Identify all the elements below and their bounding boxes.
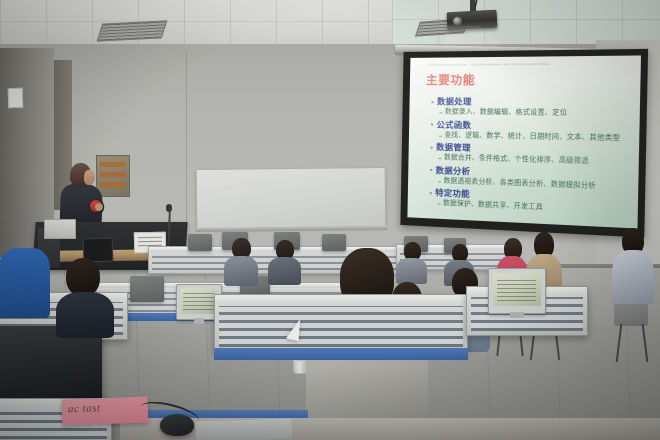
paper-line [138,237,162,238]
person-torso [56,292,114,338]
classroom-photo: Office Solution Group · Data Management … [0,0,660,440]
wall-notice-paper [8,88,24,108]
slide-title: 主要功能 [426,72,476,88]
slide-bullet-group: 公式函数 查找、逻辑、数学、统计、日期时间、文本、其他类型 [430,119,629,144]
desk-edge-trim [214,348,468,360]
monitor-rear [188,234,212,251]
lectern-equipment-box [44,219,76,239]
person-torso [396,258,427,284]
monitor-rear [322,234,346,251]
monitor-rear [130,276,164,302]
computer-mouse [160,414,194,436]
panel-strip [100,172,126,177]
presenter-hand [95,203,103,211]
slide-header-text: Office Solution Group · Data Management … [429,61,550,66]
wall-mounted-panel [96,155,130,197]
monitor-screen [493,273,540,306]
sticky-note-text: ac tast [68,402,101,415]
slide-bullet-list: 数据处理 数据录入、数据编辑、格式设置、定位 公式函数 查找、逻辑、数学、统计、… [429,96,630,219]
person-torso [0,248,50,318]
projector-lens-icon [453,17,462,26]
person-torso [224,256,258,286]
monitor-stand [510,312,523,318]
computer-keyboard [196,419,292,440]
projection-screen: Office Solution Group · Data Management … [400,49,648,238]
slide-bullet-group: 数据处理 数据录入、数据编辑、格式设置、定位 [431,96,630,120]
ceiling-projector [447,10,498,31]
paper-line [138,241,162,242]
panel-strip [100,182,126,187]
microphone-head-icon [166,204,172,212]
person-torso [268,257,301,285]
person-torso [612,250,654,304]
panel-strip [100,162,126,167]
person-head [66,258,100,296]
sticky-note: ac tast [62,397,149,426]
lab-monitor [488,268,546,314]
slide-surface: Office Solution Group · Data Management … [407,55,641,228]
monitor-screen [181,288,218,314]
whiteboard-writing: ... [238,198,246,204]
bullet-detail: 数据录入、数据编辑、格式设置、定位 [431,107,630,119]
whiteboard-writing: ... [223,182,232,189]
divider-slats [219,306,463,346]
whiteboard: ... ... [196,167,387,229]
monitor-stand [194,318,205,324]
ceiling-vent-icon [97,20,168,41]
cubicle-divider-foreground [214,294,468,352]
